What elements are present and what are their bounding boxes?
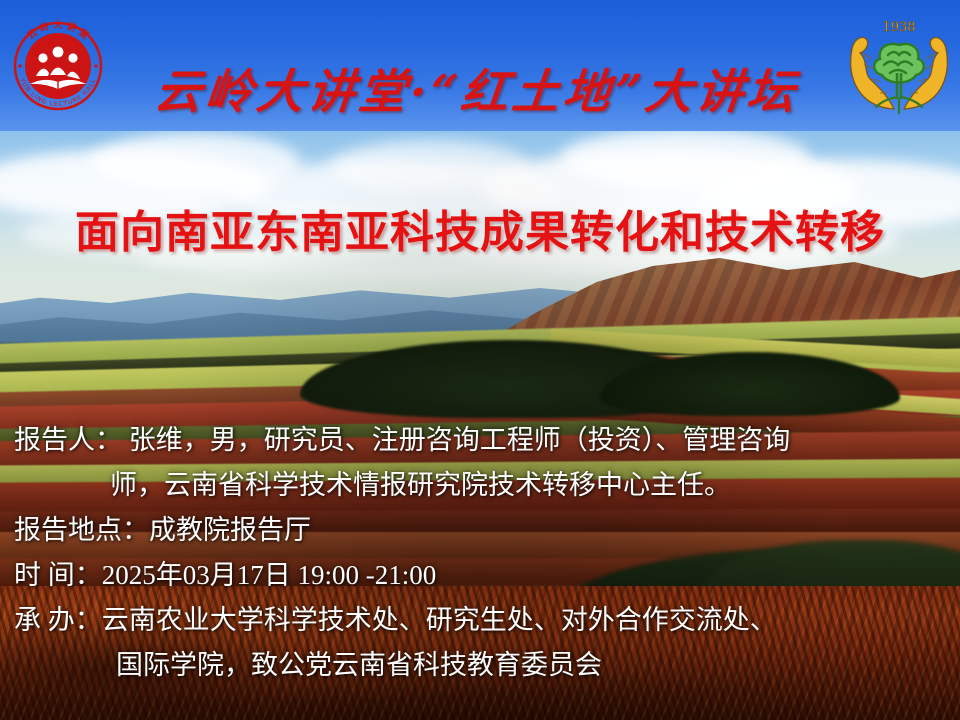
venue-line: 报告地点：成教院报告厅 [0,508,960,553]
svg-text:1938: 1938 [882,20,915,35]
speaker-line-2: 师，云南省科学技术情报研究院技术转移中心主任。 [0,463,960,508]
banner-title: 云岭大讲堂·“红土地”大讲坛 [108,53,845,122]
header-banner: 云 岭 大 讲 堂 YUN LING LECTURE HALL 云 [0,0,960,131]
yunling-lecture-hall-logo: 云 岭 大 讲 堂 YUN LING LECTURE HALL [4,12,112,120]
event-details: 报告人： 张维，男，研究员、注册咨询工程师（投资）、管理咨询 师，云南省科学技术… [0,418,960,688]
organizer-line-1: 承 办：云南农业大学科学技术处、研究生处、对外合作交流处、 [0,598,960,643]
organizer-line-2: 国际学院，致公党云南省科技教育委员会 [0,643,960,688]
yunnan-agricultural-university-logo: 1938 [842,9,956,123]
time-line: 时 间：2025年03月17日 19:00 -21:00 [0,553,960,598]
page-title: 面向南亚东南亚科技成果转化和技术转移 [0,196,960,260]
speaker-line-1: 报告人： 张维，男，研究员、注册咨询工程师（投资）、管理咨询 [0,418,960,463]
event-poster: 云 岭 大 讲 堂 YUN LING LECTURE HALL 云 [0,0,960,720]
